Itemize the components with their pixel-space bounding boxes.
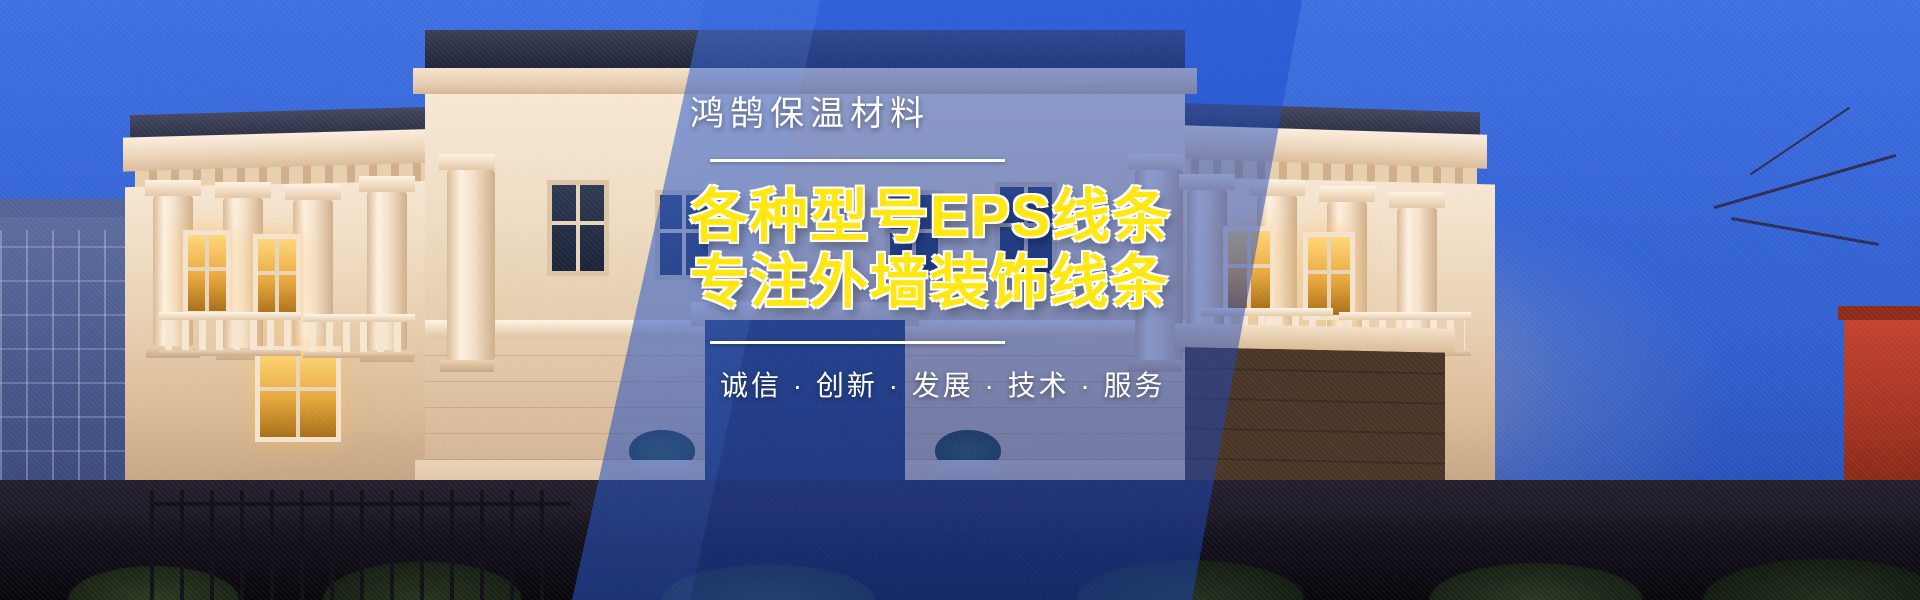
hero-banner: 鸿鹄保温材料 各种型号EPS线条 专注外墙装饰线条 诚信 · 创新 · 发展 ·… [0,0,1920,600]
window-dark [547,180,609,276]
window-lit [183,230,231,316]
column [447,170,495,360]
brand-name: 鸿鹄保温材料 [690,96,1330,133]
divider-top [710,159,1005,162]
window-lit [253,234,301,320]
divider-bottom [710,341,1005,344]
iron-fence [150,490,570,600]
balustrade [309,322,409,352]
headline-line-1: 各种型号EPS线条 [690,184,1330,250]
window-lit [255,346,341,442]
headline-line-2: 专注外墙装饰线条 [690,250,1330,316]
banner-content: 鸿鹄保温材料 各种型号EPS线条 专注外墙装饰线条 诚信 · 创新 · 发展 ·… [690,96,1330,404]
balustrade [165,320,295,350]
tagline: 诚信 · 创新 · 发展 · 技术 · 服务 [720,364,1330,404]
